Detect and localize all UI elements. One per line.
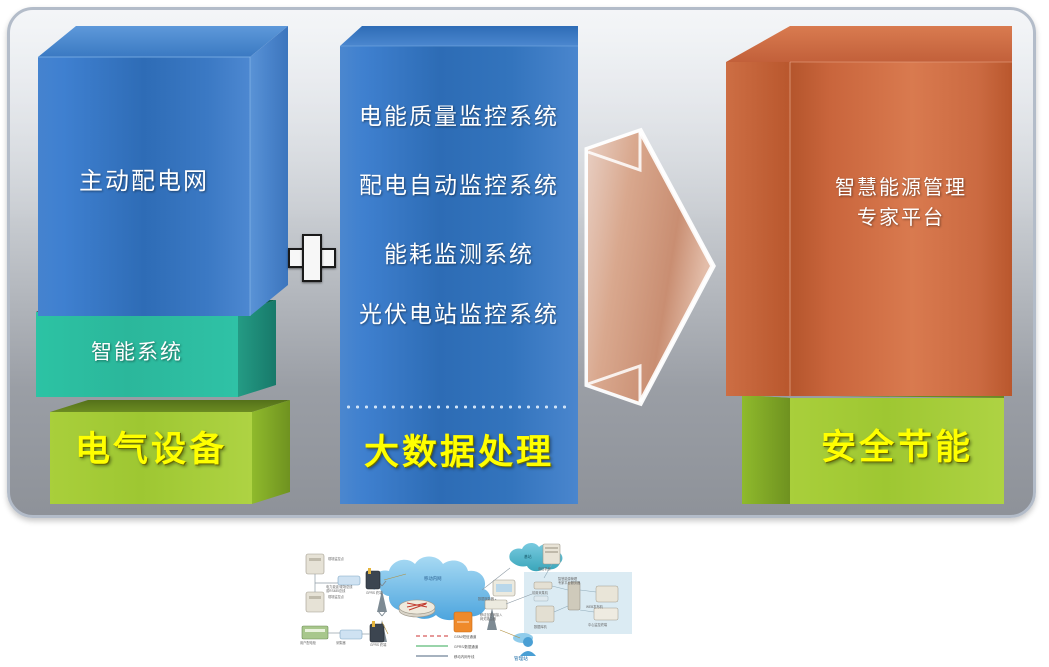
svg-text:数据库机: 数据库机 <box>534 624 548 629</box>
label-power-quality-monitoring-system: 电能质量监控系统 <box>340 105 578 128</box>
svg-text:专家平台服务器: 专家平台服务器 <box>558 580 581 585</box>
svg-text:采集器: 采集器 <box>336 640 346 645</box>
plus-icon <box>288 234 332 278</box>
network-topology-illustration: 移动内网 基站 <box>296 538 636 662</box>
label-energy-consumption-monitoring-system: 能耗监测系统 <box>340 243 578 266</box>
svg-text:管理站: 管理站 <box>514 655 528 662</box>
svg-text:基站: 基站 <box>524 554 532 559</box>
svg-text:移动内网: 移动内网 <box>424 575 442 582</box>
label-electrical-equipment: 电气设备 <box>50 432 252 467</box>
left-top-devices <box>306 554 380 612</box>
col2-dotted-divider <box>344 405 572 409</box>
label-smart-energy-management: 智慧能源管理 <box>790 175 1012 201</box>
router-icon <box>399 600 435 617</box>
svg-text:电信机房: 电信机房 <box>538 566 551 571</box>
svg-text:前置采集机: 前置采集机 <box>532 590 549 595</box>
svg-text:网关路由器: 网关路由器 <box>480 616 497 621</box>
legend: GSM/短信通道 GPRS/数据通道 移动内网专线 <box>416 634 479 659</box>
svg-text:数据服务器: 数据服务器 <box>478 596 495 601</box>
svg-text:GPRS 终端: GPRS 终端 <box>370 642 387 647</box>
label-intelligent-system: 智能系统 <box>36 342 238 363</box>
label-distribution-automation-monitoring-system: 配电自动监控系统 <box>340 174 578 197</box>
firewall-icon <box>454 612 472 632</box>
management-station-users: 管理站 <box>513 633 536 662</box>
svg-text:GPRS/数据通道: GPRS/数据通道 <box>454 644 479 649</box>
svg-text:现场监控点: 现场监控点 <box>328 594 345 599</box>
diagram-canvas: 主动配电网 /* sizing handled in CSS below */ … <box>0 0 1049 665</box>
label-big-data-processing: 大数据处理 <box>340 435 578 470</box>
svg-text:移动内网专线: 移动内网专线 <box>454 654 475 659</box>
plus-icon-center <box>304 250 316 262</box>
svg-text:WEB发布机: WEB发布机 <box>586 604 604 609</box>
svg-text:中心监控终端: 中心监控终端 <box>588 622 608 627</box>
svg-text:GPRS 终端: GPRS 终端 <box>366 590 383 595</box>
svg-text:用户配电柜: 用户配电柜 <box>300 640 317 645</box>
svg-text:GSM/短信通道: GSM/短信通道 <box>454 634 477 639</box>
left-bottom-devices <box>302 621 384 642</box>
label-pv-station-monitoring-system: 光伏电站监控系统 <box>340 303 578 326</box>
label-expert-platform: 专家平台 <box>790 205 1012 231</box>
label-active-distribution-network: 主动配电网 <box>38 170 250 194</box>
svg-text:现场监控点: 现场监控点 <box>328 556 345 561</box>
svg-text:或RS485总线: 或RS485总线 <box>326 588 346 593</box>
label-safety-energy-saving: 安全节能 <box>790 430 1004 465</box>
